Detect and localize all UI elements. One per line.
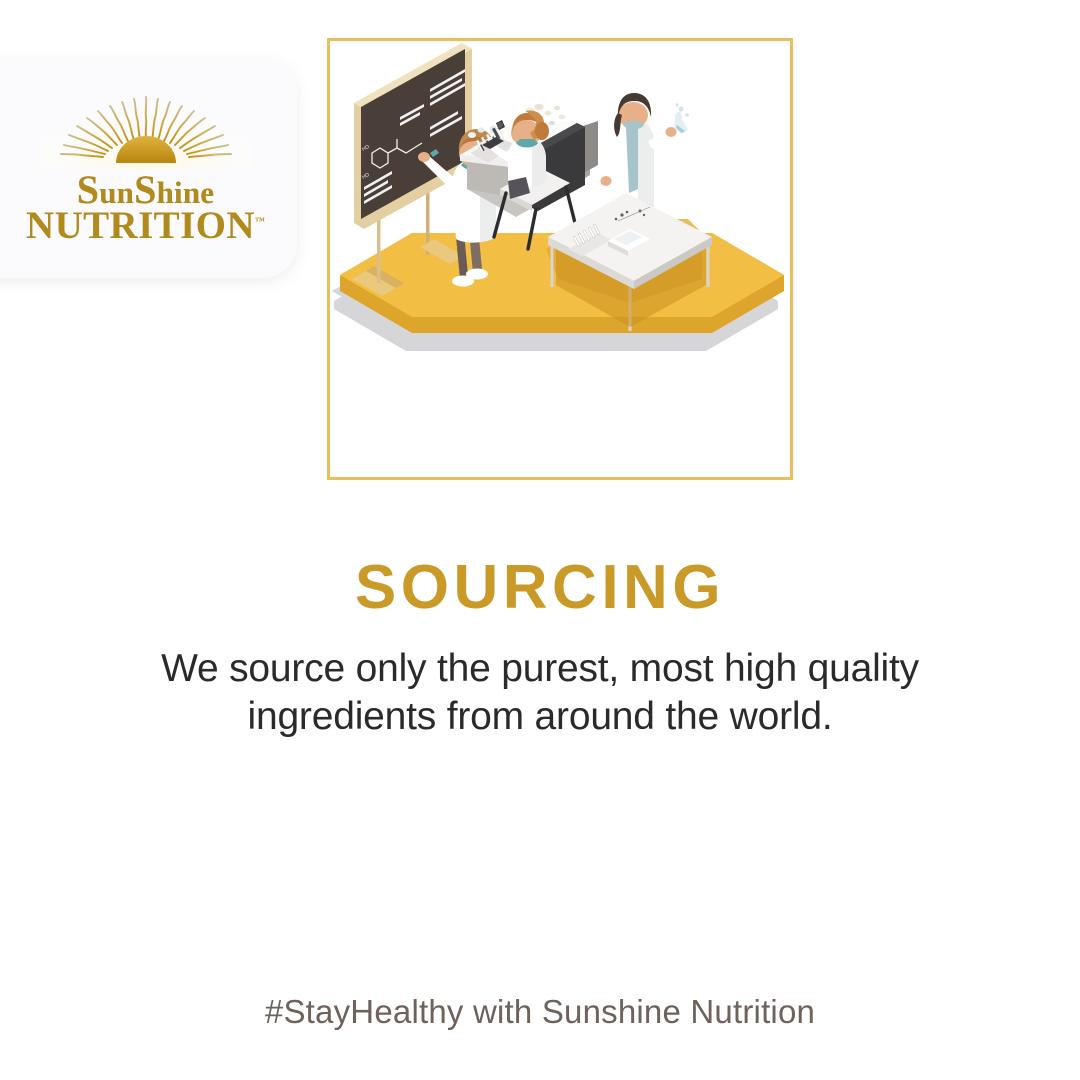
page-title: SOURCING	[0, 552, 1080, 623]
poster-canvas: SunShine NUTRITION™	[0, 0, 1080, 1080]
body-text: We source only the purest, most high qua…	[96, 645, 984, 742]
flask	[674, 103, 689, 134]
wordmark-line-1: SunShine	[26, 171, 265, 208]
brand-wordmark: SunShine NUTRITION™	[26, 171, 265, 244]
footer-hashtag: #StayHealthy with Sunshine Nutrition	[0, 993, 1080, 1031]
isometric-laboratory-illustration: HO HO	[330, 41, 790, 477]
sunburst-icon	[41, 91, 251, 169]
wordmark-line-2: NUTRITION™	[26, 208, 265, 244]
illustration-frame: HO HO	[327, 38, 793, 480]
brand-logo-card: SunShine NUTRITION™	[0, 58, 297, 278]
